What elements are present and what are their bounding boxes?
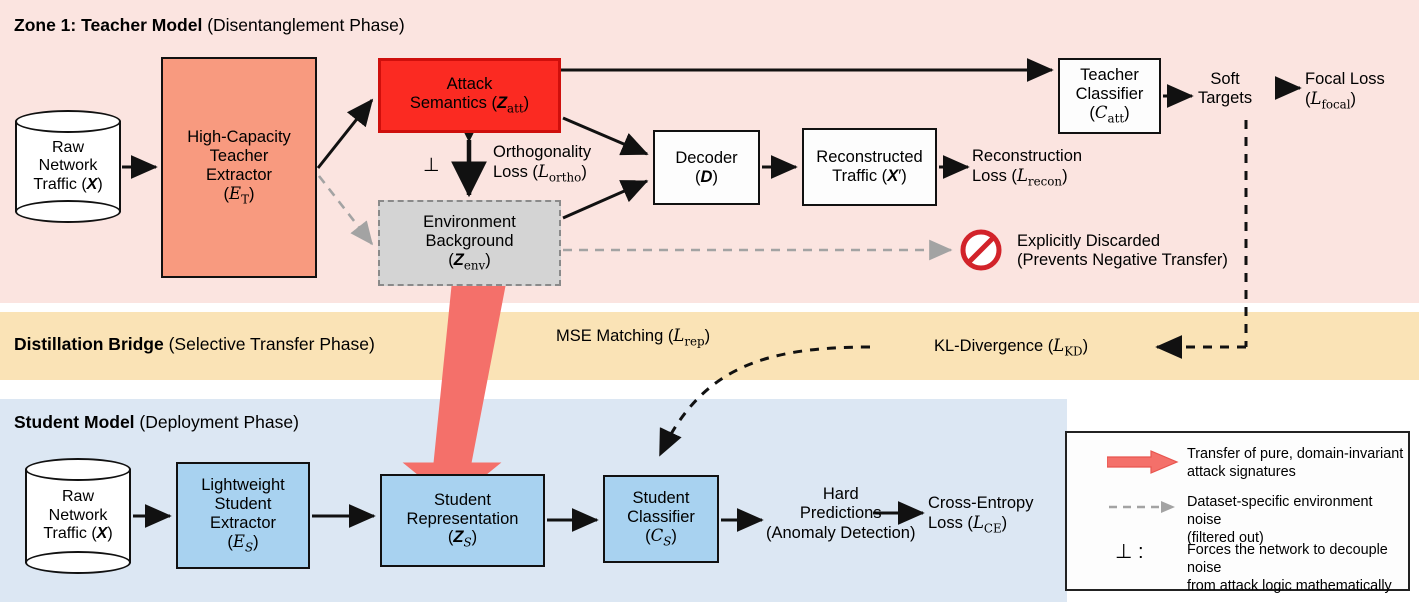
teacher-extractor-line3: Extractor: [187, 166, 291, 185]
recon-loss-line1: Reconstruction: [972, 147, 1082, 166]
cylinder-top: [15, 110, 121, 133]
perpendicular-symbol-icon: ⊥: [423, 155, 440, 177]
zone-bridge-title-bold: Distillation Bridge: [14, 334, 164, 354]
teacher-extractor-box: High-Capacity Teacher Extractor (ET): [161, 57, 317, 278]
cylinder-top: [25, 458, 131, 481]
orthogonality-loss-label: Orthogonality Loss (Lortho): [493, 143, 591, 185]
student-extractor-label: Lightweight Student Extractor (ES): [201, 476, 284, 554]
recon-loss-line2: Loss (Lrecon): [972, 166, 1082, 188]
student-rep-line2: Representation: [407, 510, 519, 529]
decoder-box: Decoder (D): [653, 130, 760, 205]
teacher-extractor-line2: Teacher: [187, 147, 291, 166]
teacher-classifier-label: Teacher Classifier (Catt): [1076, 66, 1144, 125]
decoder-label: Decoder (D): [675, 149, 737, 187]
hard-pred-line1: Hard: [766, 485, 915, 504]
raw-traffic-line3: Traffic (X): [15, 176, 121, 195]
hard-pred-line2: Predictions: [766, 504, 915, 523]
reconstruction-loss-label: Reconstruction Loss (Lrecon): [972, 147, 1082, 189]
legend-item-1-line1: Transfer of pure, domain-invariant: [1187, 445, 1403, 463]
raw-traffic-line2: Network: [15, 157, 121, 176]
soft-targets-line2: Targets: [1198, 89, 1252, 108]
hard-pred-line3: (Anomaly Detection): [766, 524, 915, 543]
legend-item-3-text: Forces the network to decouple noise fro…: [1187, 541, 1408, 595]
environment-line3: (Zenv): [423, 251, 516, 273]
red-solid-arrow-icon: [1107, 450, 1179, 474]
student-extractor-line3: Extractor: [201, 514, 284, 533]
reconstructed-line1: Reconstructed: [816, 148, 922, 167]
legend-item-1-line2: attack signatures: [1187, 463, 1403, 481]
focal-loss-label: Focal Loss (Lfocal): [1305, 70, 1385, 112]
student-representation-label: Student Representation (ZS): [407, 491, 519, 550]
legend-item-3-line1: Forces the network to decouple noise: [1187, 541, 1408, 577]
zone-student-title-rest: (Deployment Phase): [139, 412, 299, 432]
reconstructed-line2: Traffic (X′): [816, 167, 922, 186]
teacher-clf-line3: (Catt): [1076, 104, 1144, 126]
attack-semantics-label: Attack Semantics (Zatt): [410, 75, 529, 116]
raw-traffic-s-line1: Raw: [25, 488, 131, 507]
attack-semantics-box: Attack Semantics (Zatt): [378, 58, 561, 133]
cross-entropy-loss-label: Cross-Entropy Loss (LCE): [928, 494, 1033, 536]
student-classifier-box: Student Classifier (CS): [603, 475, 719, 563]
environment-background-box: Environment Background (Zenv): [378, 200, 561, 286]
environment-line1: Environment: [423, 213, 516, 232]
student-rep-line3: (ZS): [407, 528, 519, 550]
teacher-clf-line2: Classifier: [1076, 85, 1144, 104]
discarded-line1: Explicitly Discarded: [1017, 232, 1228, 251]
student-classifier-label: Student Classifier (CS): [627, 489, 695, 548]
gray-dashed-arrow-icon: [1109, 500, 1177, 514]
teacher-clf-line1: Teacher: [1076, 66, 1144, 85]
soft-targets-label: Soft Targets: [1198, 70, 1252, 109]
student-clf-line1: Student: [627, 489, 695, 508]
zone-teacher-title: Zone 1: Teacher Model (Disentanglement P…: [14, 15, 405, 36]
reconstructed-traffic-box: Reconstructed Traffic (X′): [802, 128, 937, 206]
zone-bridge-title-rest: (Selective Transfer Phase): [169, 334, 375, 354]
zone-teacher-title-bold: Zone 1: Teacher Model: [14, 15, 202, 35]
zone-teacher-title-rest: (Disentanglement Phase): [207, 15, 404, 35]
no-entry-icon: [959, 228, 1003, 272]
raw-network-traffic-student: Raw Network Traffic (X): [25, 458, 131, 574]
cylinder-bottom: [25, 551, 131, 574]
raw-traffic-teacher-label: Raw Network Traffic (X): [15, 139, 121, 195]
focal-loss-line2: (Lfocal): [1305, 89, 1385, 111]
perp-symbol-icon: ⊥ :: [1115, 539, 1144, 564]
legend-item-2-text: Dataset-specific environment noise (filt…: [1187, 493, 1408, 547]
ortho-line2: Loss (Lortho): [493, 162, 591, 184]
raw-traffic-s-line2: Network: [25, 507, 131, 526]
ce-loss-line2: Loss (LCE): [928, 513, 1033, 535]
hard-predictions-label: Hard Predictions (Anomaly Detection): [766, 485, 915, 543]
student-rep-line1: Student: [407, 491, 519, 510]
diagram-canvas: Zone 1: Teacher Model (Disentanglement P…: [0, 0, 1419, 602]
student-extractor-box: Lightweight Student Extractor (ES): [176, 462, 310, 569]
environment-background-label: Environment Background (Zenv): [423, 213, 516, 272]
mse-matching-label: MSE Matching (Lrep): [556, 326, 710, 348]
decoder-line2: (D): [675, 168, 737, 187]
student-clf-line3: (CS): [627, 527, 695, 549]
raw-network-traffic-teacher: Raw Network Traffic (X): [15, 110, 121, 223]
teacher-extractor-line4: (ET): [187, 185, 291, 207]
soft-targets-line1: Soft: [1198, 70, 1252, 89]
legend-item-3-line2: from attack logic mathematically: [1187, 577, 1408, 595]
zone-bridge-title: Distillation Bridge (Selective Transfer …: [14, 334, 375, 355]
raw-traffic-line1: Raw: [15, 139, 121, 158]
teacher-extractor-label: High-Capacity Teacher Extractor (ET): [187, 128, 291, 206]
teacher-classifier-box: Teacher Classifier (Catt): [1058, 58, 1161, 134]
environment-line2: Background: [423, 232, 516, 251]
raw-traffic-student-label: Raw Network Traffic (X): [25, 488, 131, 544]
ce-loss-line1: Cross-Entropy: [928, 494, 1033, 513]
zone-student-title: Student Model (Deployment Phase): [14, 412, 299, 433]
student-clf-line2: Classifier: [627, 508, 695, 527]
reconstructed-label: Reconstructed Traffic (X′): [816, 148, 922, 186]
student-extractor-line1: Lightweight: [201, 476, 284, 495]
explicitly-discarded-label: Explicitly Discarded (Prevents Negative …: [1017, 232, 1228, 271]
legend-item-1-text: Transfer of pure, domain-invariant attac…: [1187, 445, 1403, 481]
raw-traffic-s-line3: Traffic (X): [25, 525, 131, 544]
attack-semantics-line2: Semantics (Zatt): [410, 94, 529, 116]
student-representation-box: Student Representation (ZS): [380, 474, 545, 567]
zone-student-title-bold: Student Model: [14, 412, 135, 432]
attack-semantics-line1: Attack: [410, 75, 529, 94]
cylinder-bottom: [15, 200, 121, 223]
kl-divergence-label: KL-Divergence (LKD): [934, 336, 1088, 358]
decoder-line1: Decoder: [675, 149, 737, 168]
teacher-extractor-line1: High-Capacity: [187, 128, 291, 147]
discarded-line2: (Prevents Negative Transfer): [1017, 251, 1228, 270]
legend-item-2-line1: Dataset-specific environment noise: [1187, 493, 1408, 529]
ortho-line1: Orthogonality: [493, 143, 591, 162]
legend-panel: Transfer of pure, domain-invariant attac…: [1065, 431, 1410, 591]
student-extractor-line2: Student: [201, 495, 284, 514]
focal-loss-line1: Focal Loss: [1305, 70, 1385, 89]
student-extractor-line4: (ES): [201, 533, 284, 555]
